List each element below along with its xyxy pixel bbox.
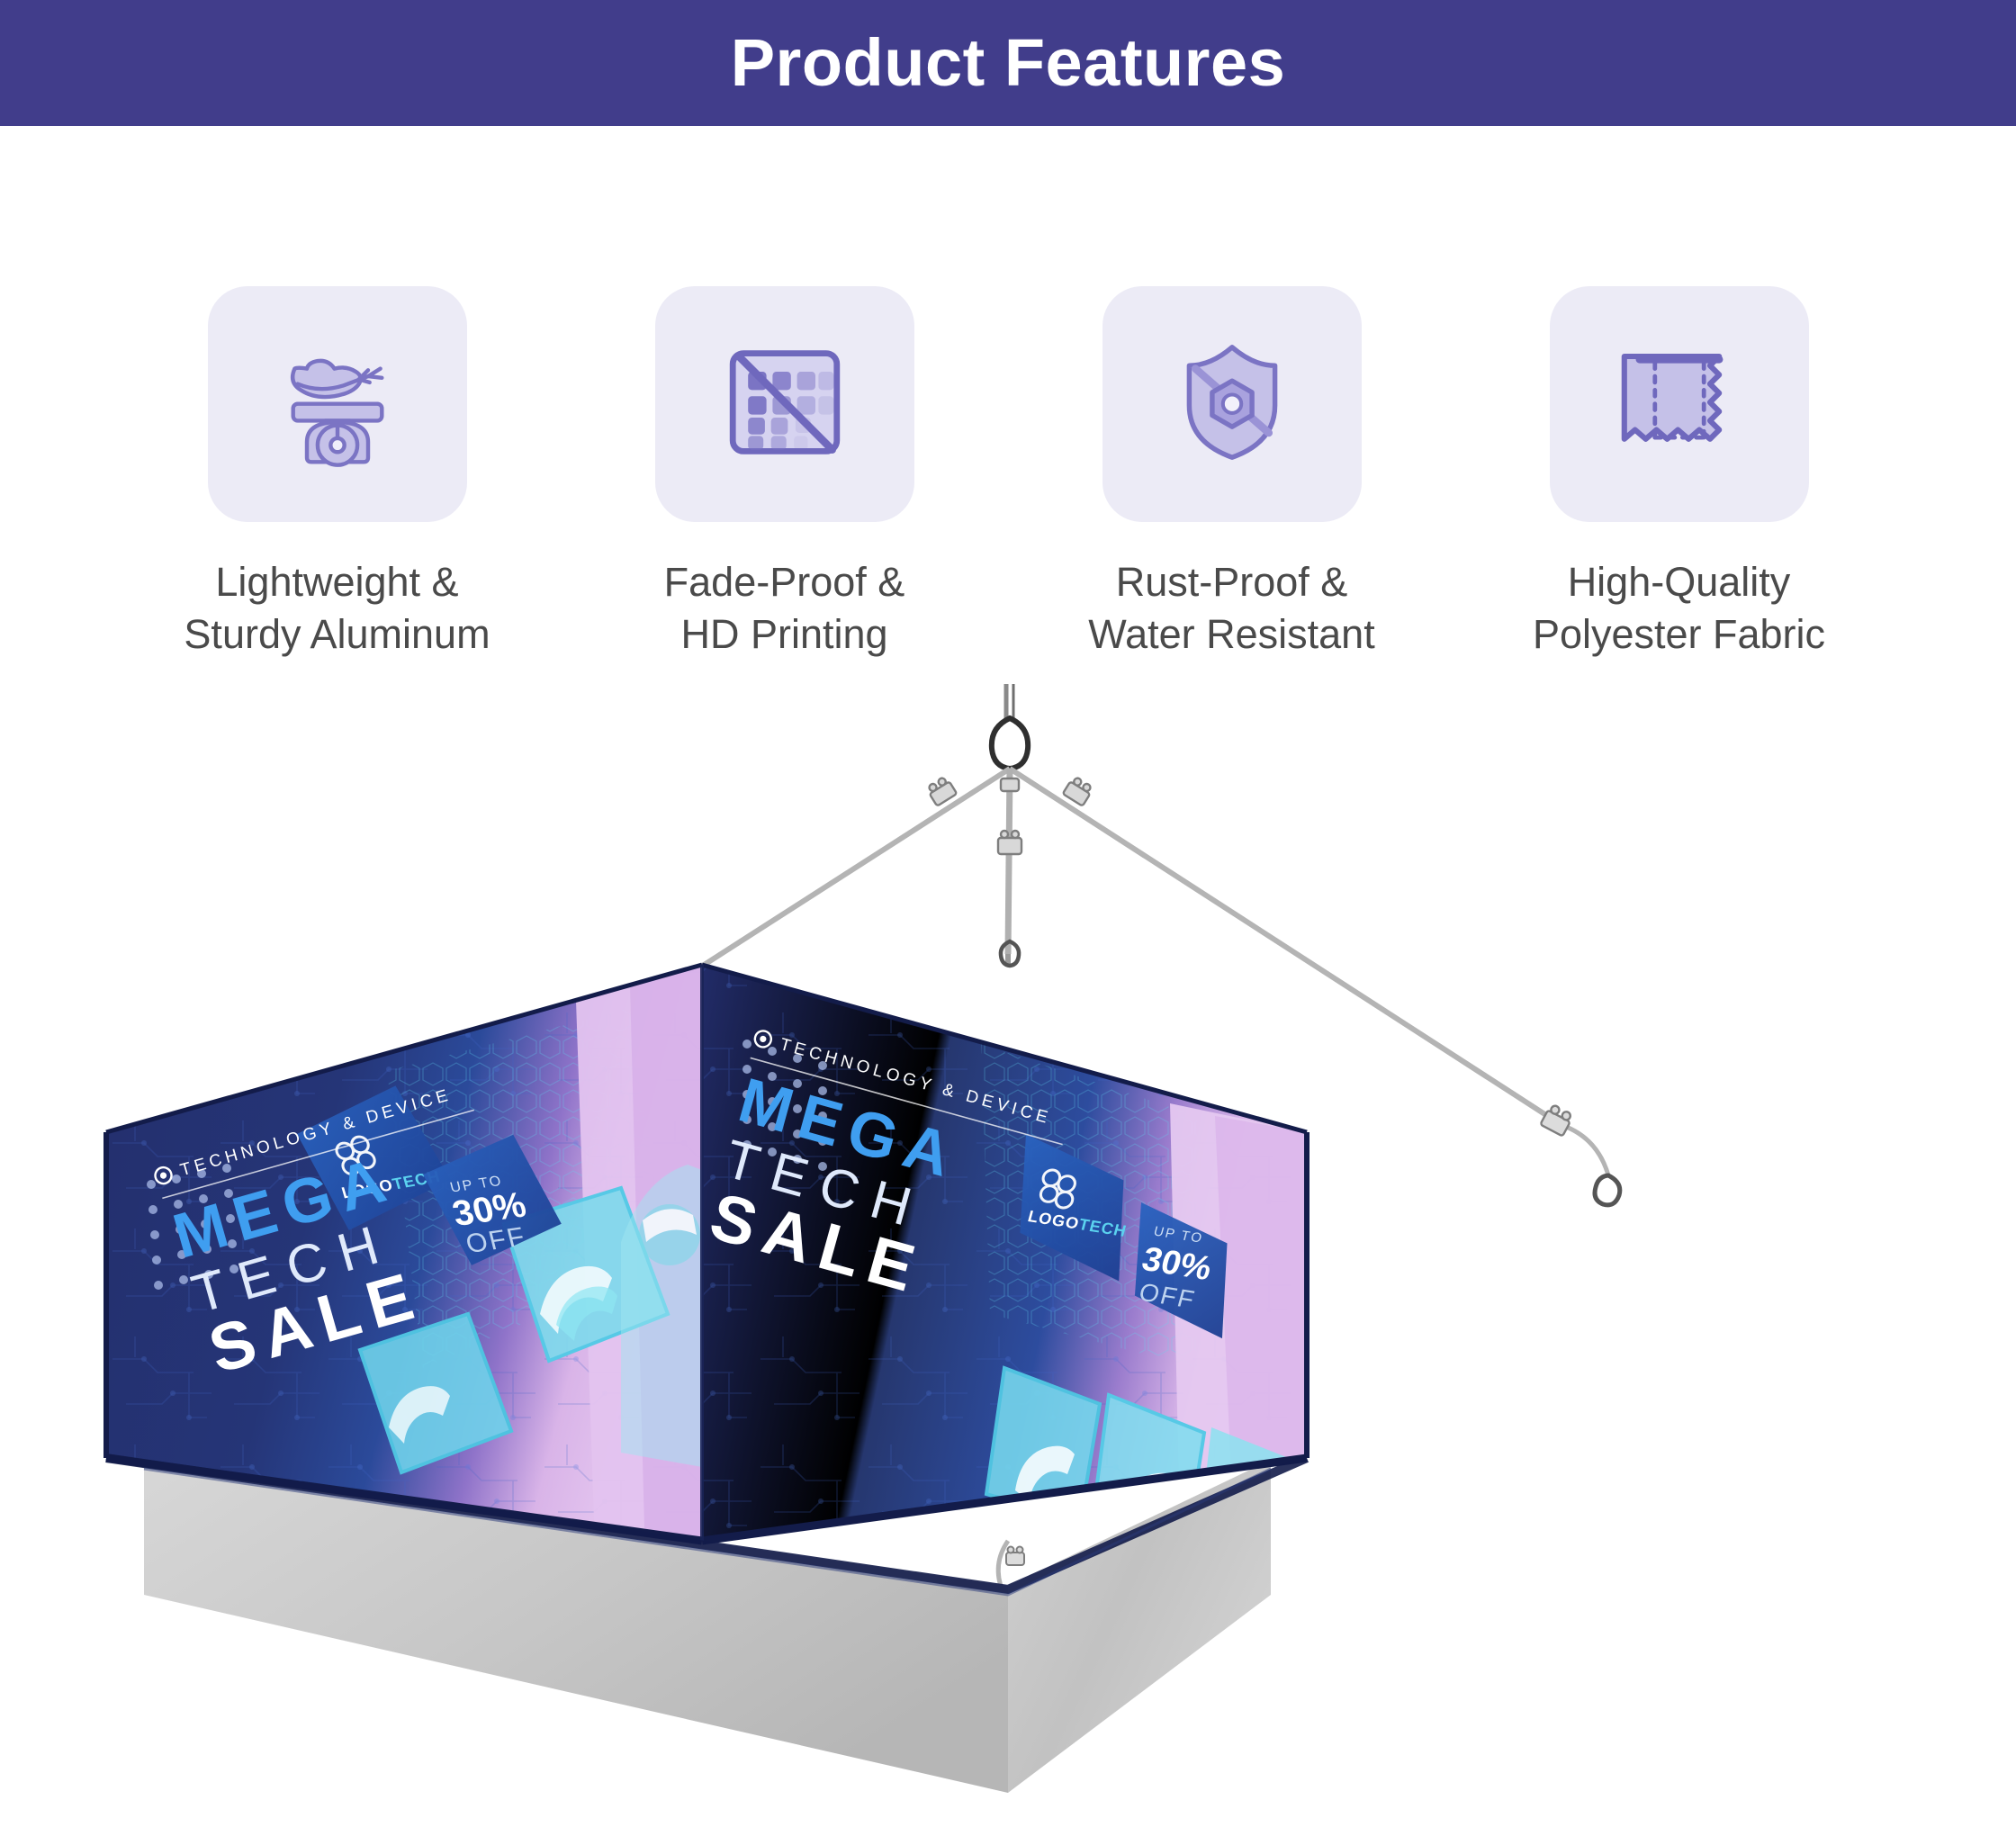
feature-caption-fabric: High-Quality Polyester Fabric	[1533, 556, 1825, 660]
feature-item-fabric: High-Quality Polyester Fabric	[1455, 286, 1903, 660]
banner-interior	[137, 1460, 1879, 1798]
feature-caption-fade-proof: Fade-Proof & HD Printing	[664, 556, 905, 660]
fabric-swatch-icon	[1603, 326, 1756, 483]
feature-item-fade-proof: Fade-Proof & HD Printing	[561, 286, 1008, 660]
shield-bolt-icon	[1156, 326, 1309, 483]
cable-center	[1008, 769, 1010, 954]
feature-item-rust-proof: Rust-Proof & Water Resistant	[1008, 286, 1455, 660]
header-band: Product Features	[0, 0, 2016, 126]
feature-caption-rust-proof: Rust-Proof & Water Resistant	[1088, 556, 1374, 660]
no-fade-grid-icon	[708, 326, 861, 483]
product-image: LOGOTECH UP TO 30% OFF TECHNOLOGY & DEVI…	[0, 684, 2016, 1836]
icon-tile-fabric	[1550, 286, 1809, 522]
feature-list: Lightweight & Sturdy Aluminum	[0, 286, 2016, 660]
corner-hardware-right	[1540, 1103, 1619, 1205]
icon-tile-fade-proof	[655, 286, 914, 522]
page-title: Product Features	[731, 30, 1286, 96]
ceiling-hook-icon	[992, 718, 1028, 769]
feather-on-scale-icon	[261, 326, 414, 483]
carabiner-right-icon	[1595, 1175, 1620, 1205]
banner-face-right: LOGOTECH UP TO 30% OFF TECHNOLOGY & DEVI…	[697, 965, 1332, 1566]
feature-item-lightweight: Lightweight & Sturdy Aluminum	[113, 286, 561, 660]
hanging-banner-illustration: LOGOTECH UP TO 30% OFF TECHNOLOGY & DEVI…	[0, 684, 2016, 1836]
icon-tile-rust-proof	[1102, 286, 1362, 522]
icon-tile-lightweight	[208, 286, 467, 522]
feature-caption-lightweight: Lightweight & Sturdy Aluminum	[184, 556, 490, 660]
